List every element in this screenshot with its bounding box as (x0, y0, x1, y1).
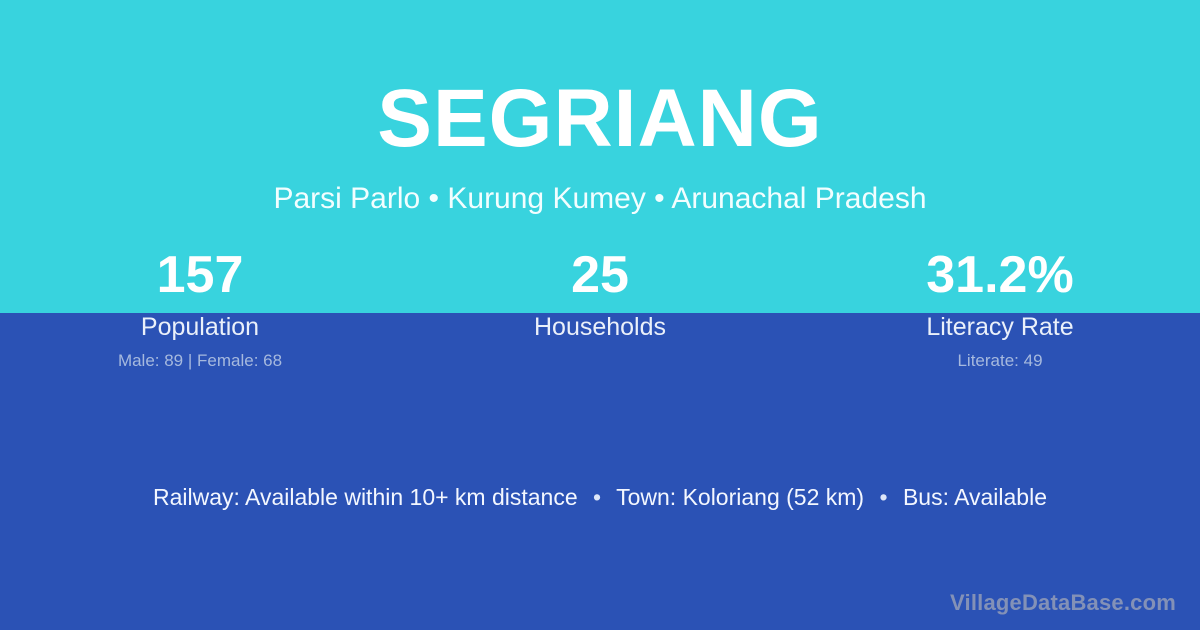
card-header: SEGRIANG Parsi Parlo • Kurung Kumey • Ar… (0, 0, 1200, 235)
stat-sub-population: Male: 89 | Female: 68 (118, 351, 282, 371)
stat-literacy-rate: 31.2% Literacy Rate Literate: 49 (800, 248, 1200, 371)
fact-separator-1: • (584, 484, 610, 512)
amenities-line: Railway: Available within 10+ km distanc… (0, 484, 1200, 512)
page-title: SEGRIANG (377, 78, 822, 160)
stat-sub-literacy-rate: Literate: 49 (957, 351, 1042, 371)
stat-value-population: 157 (157, 248, 244, 306)
fact-railway: Railway: Available within 10+ km distanc… (153, 484, 578, 510)
stat-value-literacy-rate: 31.2% (926, 248, 1073, 306)
stat-label-population: Population (141, 313, 259, 342)
stats-row: 157 Population Male: 89 | Female: 68 25 … (0, 248, 1200, 371)
fact-bus: Bus: Available (903, 484, 1047, 510)
stat-population: 157 Population Male: 89 | Female: 68 (0, 248, 400, 371)
site-watermark: VillageDataBase.com (950, 590, 1176, 616)
breadcrumb: Parsi Parlo • Kurung Kumey • Arunachal P… (273, 182, 926, 215)
stat-label-literacy-rate: Literacy Rate (926, 313, 1073, 342)
village-info-card: SEGRIANG Parsi Parlo • Kurung Kumey • Ar… (0, 0, 1200, 630)
fact-town: Town: Koloriang (52 km) (616, 484, 864, 510)
stat-label-households: Households (534, 313, 666, 342)
fact-separator-2: • (870, 484, 896, 512)
stat-households: 25 Households (400, 248, 800, 371)
stat-value-households: 25 (571, 248, 629, 306)
